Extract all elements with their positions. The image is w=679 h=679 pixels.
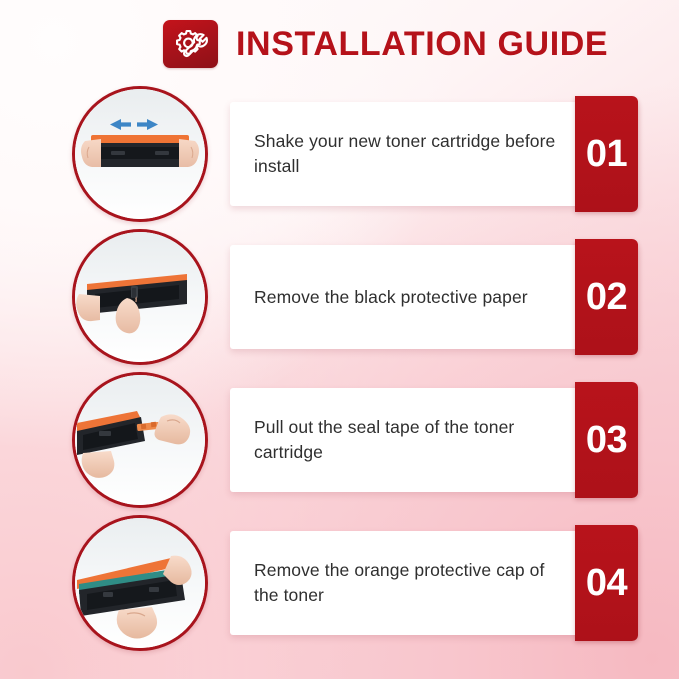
step-number-badge: 04 bbox=[575, 525, 638, 641]
step-row: Shake your new toner cartridge before in… bbox=[0, 82, 679, 225]
page-title: INSTALLATION GUIDE bbox=[236, 27, 608, 61]
step-card: Remove the orange protective cap of the … bbox=[230, 531, 638, 635]
step-card: Pull out the seal tape of the toner cart… bbox=[230, 388, 638, 492]
installation-guide-poster: INSTALLATION GUIDE bbox=[0, 0, 679, 679]
step-text: Remove the orange protective cap of the … bbox=[230, 531, 575, 635]
step-number-badge: 02 bbox=[575, 239, 638, 355]
step-image-shake-cartridge bbox=[72, 86, 208, 222]
step-number-badge: 01 bbox=[575, 96, 638, 212]
header: INSTALLATION GUIDE bbox=[163, 20, 608, 68]
step-image-pull-seal-tape bbox=[72, 372, 208, 508]
step-number-badge: 03 bbox=[575, 382, 638, 498]
step-text: Pull out the seal tape of the toner cart… bbox=[230, 388, 575, 492]
step-card: Shake your new toner cartridge before in… bbox=[230, 102, 638, 206]
gear-wrench-icon bbox=[163, 20, 218, 68]
step-text: Remove the black protective paper bbox=[230, 245, 575, 349]
steps-list: Shake your new toner cartridge before in… bbox=[0, 82, 679, 654]
step-row: Pull out the seal tape of the toner cart… bbox=[0, 368, 679, 511]
step-text: Shake your new toner cartridge before in… bbox=[230, 102, 575, 206]
step-card: Remove the black protective paper 02 bbox=[230, 245, 638, 349]
step-image-remove-black-paper bbox=[72, 229, 208, 365]
step-row: Remove the black protective paper 02 bbox=[0, 225, 679, 368]
step-image-remove-orange-cap bbox=[72, 515, 208, 651]
step-row: Remove the orange protective cap of the … bbox=[0, 511, 679, 654]
